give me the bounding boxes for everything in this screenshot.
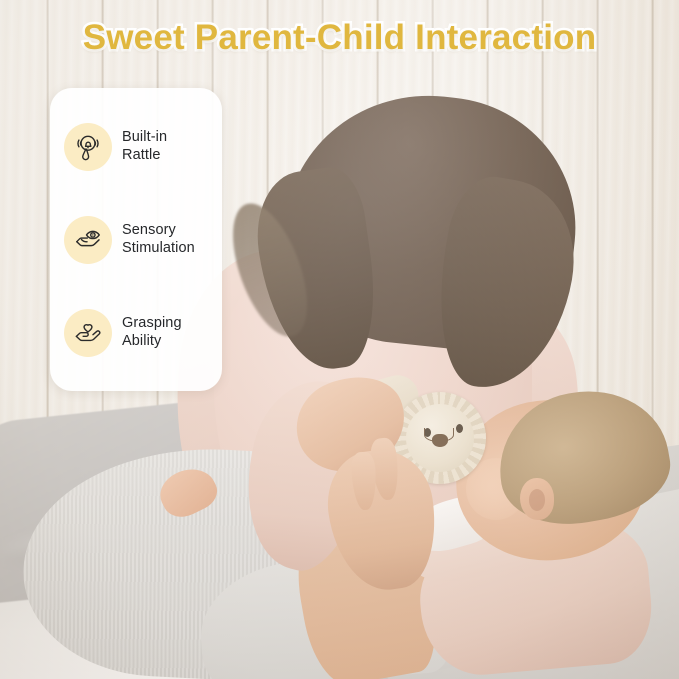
hand-eye-icon (64, 216, 112, 264)
feature-label-built-in-rattle: Built-in Rattle (122, 129, 167, 164)
feature-item-sensory-stimulation[interactable]: Sensory Stimulation (50, 201, 222, 279)
feature-item-grasping-ability[interactable]: Grasping Ability (50, 294, 222, 372)
feature-card: Built-in Rattle Sensory Stimulation (50, 88, 222, 391)
feature-label-sensory-stimulation: Sensory Stimulation (122, 222, 195, 257)
feature-item-built-in-rattle[interactable]: Built-in Rattle (50, 108, 222, 186)
page-title: Sweet Parent-Child Interaction (0, 18, 679, 58)
hand-heart-icon (64, 309, 112, 357)
product-lifestyle-image: Sweet Parent-Child Interaction Built-in … (0, 0, 679, 679)
feature-label-grasping-ability: Grasping Ability (122, 315, 182, 350)
rattle-icon (64, 123, 112, 171)
